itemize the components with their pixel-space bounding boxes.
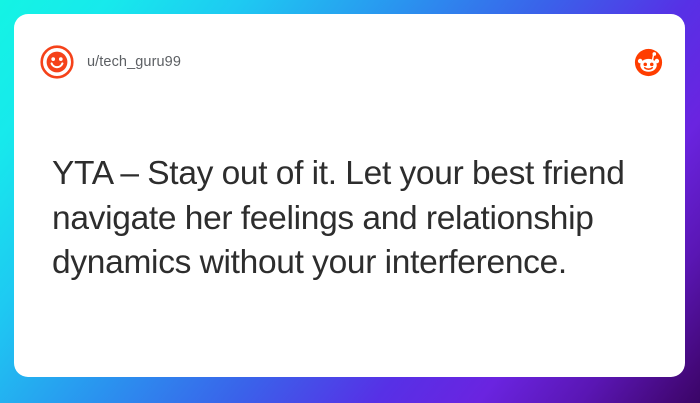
reddit-quote-card: u/tech_guru99 YTA – Stay out of it. Let … xyxy=(14,14,685,377)
card-header: u/tech_guru99 xyxy=(40,42,663,82)
username-label: u/tech_guru99 xyxy=(87,54,181,70)
gradient-background: u/tech_guru99 YTA – Stay out of it. Let … xyxy=(0,0,700,403)
smiley-face-icon xyxy=(40,45,74,79)
quote-text: YTA – Stay out of it. Let your best frie… xyxy=(52,152,651,286)
reddit-snoo-icon xyxy=(634,48,663,77)
